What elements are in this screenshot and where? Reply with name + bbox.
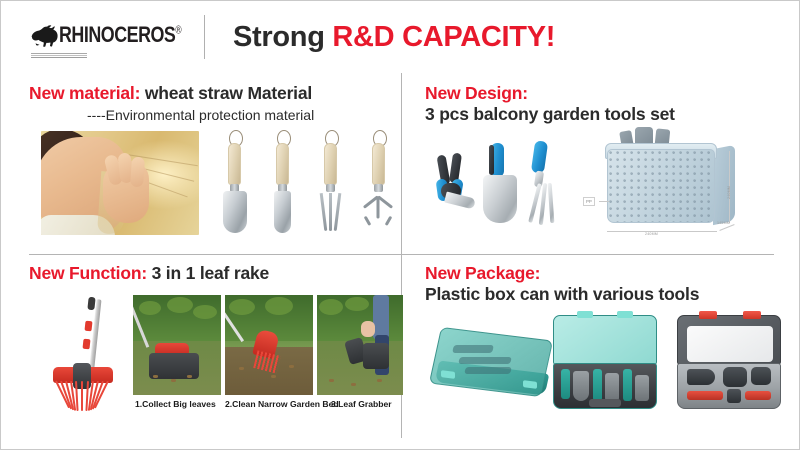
new-design-label: New Design: [425,83,787,104]
rake-action-photo-1 [133,295,221,395]
rhino-icon [29,17,63,55]
open-teal-tool-case [553,311,663,415]
panel-new-function: New Function: 3 in 1 leaf rake [29,263,399,435]
caption-leaf-grabber: 3.Leaf Grabber [331,399,392,409]
logo-underline-decoration [31,53,87,58]
red-leaf-rake-product [33,295,131,413]
blue-handle-tool-trio [425,131,597,243]
panel-new-package: New Package: Plastic box can with variou… [425,263,787,435]
registered-mark: ® [175,24,181,36]
dimension-label-depth: 145MM [717,221,730,225]
new-function-label: New Function: [29,263,147,283]
header-vertical-divider [204,15,205,59]
slide-canvas: RHINOCEROS® Strong R&D CAPACITY! New mat… [0,0,800,450]
new-material-media [29,129,399,247]
garden-cultivator [359,129,399,237]
new-material-heading: New material: wheat straw Material [29,83,399,104]
new-material-subtitle: ----Environmental protection material [87,106,399,124]
new-function-value: 3 in 1 leaf rake [147,263,269,283]
brand-text: RHINOCEROS [59,23,175,48]
garden-hand-fork [311,129,351,237]
dimension-label-width: 240MM [645,232,658,236]
garden-trowel-wide [215,129,255,237]
caption-clean-narrow-garden-bed: 2.Clean Narrow Garden Bed [225,399,339,409]
dimension-line-depth [719,224,734,231]
new-package-value: Plastic box can with various tools [425,284,787,305]
new-function-heading: New Function: 3 in 1 leaf rake [29,263,399,284]
panel-new-design: New Design: 3 pcs balcony garden tools s… [425,83,787,251]
garden-transplanter [263,129,303,237]
woman-smelling-wheat-straw-photo [41,131,199,235]
title-rd-capacity: R&D CAPACITY! [332,21,555,53]
new-material-value: wheat straw Material [140,83,312,103]
dimension-line-width [607,231,717,232]
rake-action-photo-2 [225,295,313,395]
new-package-label: New Package: [425,263,787,284]
open-grey-red-tool-case [677,311,787,415]
material-tag-pp: PP [583,197,595,206]
panel-new-material: New material: wheat straw Material ----E… [29,83,399,251]
dimension-label-height: 240MM [727,186,731,199]
caption-collect-big-leaves: 1.Collect Big leaves [135,399,216,409]
wheat-straw-handle-garden-tools [215,129,399,241]
perforated-storage-basket: 240MM 240MM 145MM PP [577,125,787,247]
new-package-media [425,311,787,431]
new-function-media: 1.Collect Big leaves 2.Clean Narrow Gard… [29,293,399,435]
grid-horizontal-divider [29,254,774,255]
brand-wordmark: RHINOCEROS® [59,23,181,49]
new-material-label: New material: [29,83,140,103]
closed-teal-tool-case [425,311,555,415]
rake-action-photo-3 [317,295,403,395]
slide-header: RHINOCEROS® Strong R&D CAPACITY! [1,1,800,69]
new-design-media: 240MM 240MM 145MM PP [425,131,787,249]
new-design-value: 3 pcs balcony garden tools set [425,104,787,125]
title-strong: Strong [233,21,332,53]
brand-logo: RHINOCEROS® [29,15,189,57]
page-title: Strong R&D CAPACITY! [233,16,555,58]
